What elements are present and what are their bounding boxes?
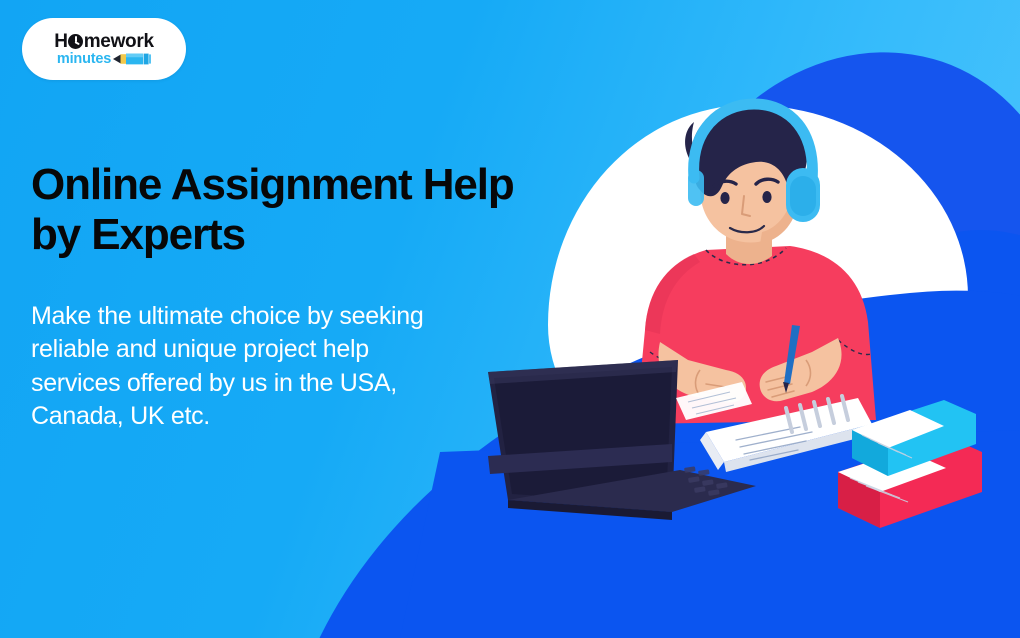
pencil-icon	[113, 52, 151, 66]
eye-right	[762, 191, 771, 203]
clock-o-icon	[68, 34, 83, 49]
brand-logo[interactable]: H mework minutes	[22, 18, 186, 80]
eye-left	[720, 192, 729, 204]
page-title: Online Assignment Help by Experts	[31, 160, 531, 259]
logo-homework-text: H mework	[54, 32, 153, 51]
logo-mework-letters: mework	[84, 32, 154, 51]
promotional-banner: H mework minutes Online Assignment Help …	[0, 0, 1020, 638]
logo-minutes-text: minutes	[57, 52, 111, 67]
page-subtitle: Make the ultimate choice by seeking reli…	[31, 300, 451, 433]
logo-minutes-row: minutes	[57, 52, 151, 67]
logo-h-letter: H	[54, 32, 67, 51]
